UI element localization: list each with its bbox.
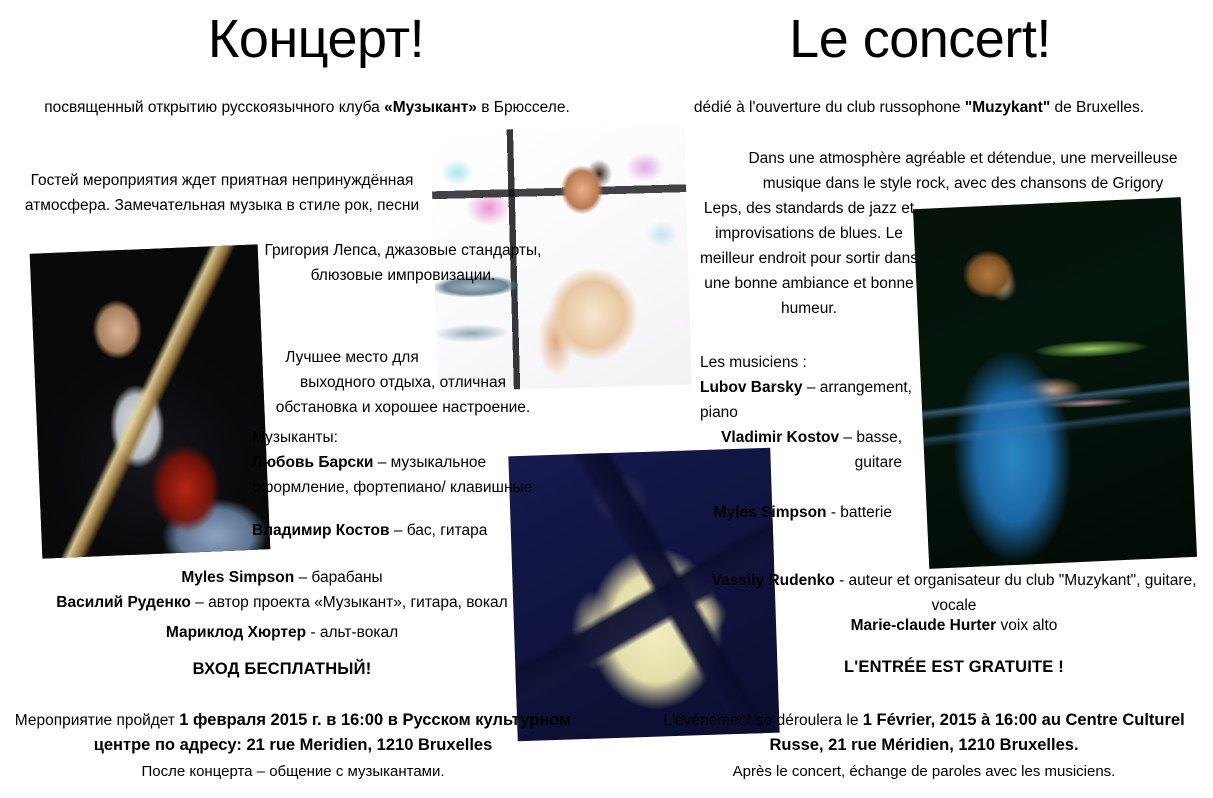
- french-musician-row-4: Vassily Rudenko - auteur et organisateur…: [700, 568, 1208, 618]
- musician-name: Lubov Barsky: [700, 379, 803, 396]
- musician-role: – basse, guitare: [839, 429, 902, 471]
- russian-venue-prefix: Мероприятие пройдет: [15, 712, 180, 729]
- russian-title: Концерт!: [36, 8, 596, 70]
- russian-intro-d: выходного отдыха, отличная: [252, 370, 554, 395]
- french-musician-row-5: Marie-claude Hurter voix alto: [700, 613, 1208, 638]
- russian-musician-row-3: Myles Simpson – барабаны: [10, 565, 554, 590]
- musician-name: Vassily Rudenko: [712, 572, 835, 589]
- guitarist-photo: [30, 244, 271, 558]
- musician-name: Василий Руденко: [56, 594, 191, 611]
- french-lead-part2: de Bruxelles.: [1050, 99, 1144, 116]
- russian-musician-row-2: Владимир Костов – бас, гитара: [252, 518, 554, 543]
- russian-intro-a: Гостей мероприятия ждет приятная неприну…: [10, 168, 434, 218]
- french-musicians-block: Les musiciens : Lubov Barsky – arrangeme…: [700, 350, 918, 425]
- russian-after-concert: После концерта – общение с музыкантами.: [10, 760, 576, 784]
- french-venue-prefix: L'événement se déroulera le: [663, 712, 862, 729]
- musician-name: Любовь Барски: [252, 454, 373, 471]
- musician-role: – бас, гитара: [394, 522, 488, 539]
- russian-musician-row: Любовь Барски – музыкальное оформление, …: [252, 450, 554, 500]
- russian-lead: посвященный открытию русскоязычного клуб…: [36, 96, 578, 120]
- musician-role: - batterie: [827, 504, 892, 521]
- musician-role: - auteur et organisateur du club "Muzyka…: [835, 572, 1197, 614]
- russian-musicians-heading: Музыканты:: [252, 425, 554, 450]
- musician-role: - альт-вокал: [306, 624, 398, 641]
- russian-musician-row-4: Василий Руденко – автор проекта «Музыкан…: [10, 590, 554, 615]
- russian-intro-b: Григория Лепса, джазовые стандарты, блюз…: [252, 238, 554, 288]
- musician-name: Myles Simpson: [714, 504, 827, 521]
- musician-role: – барабаны: [294, 569, 382, 586]
- french-musician-row: Lubov Barsky – arrangement, piano: [700, 375, 918, 425]
- french-lead: dédié à l'ouverture du club russophone "…: [630, 96, 1208, 120]
- russian-venue: Мероприятие пройдет 1 февраля 2015 г. в …: [10, 708, 576, 758]
- russian-free-entry: ВХОД БЕСПЛАТНЫЙ!: [10, 660, 554, 679]
- french-club-name: "Muzykant": [965, 99, 1050, 116]
- french-musician-row-2: Vladimir Kostov – basse, guitare: [700, 425, 902, 475]
- french-after-concert: Après le concert, échange de paroles ave…: [640, 760, 1208, 784]
- musician-name: Myles Simpson: [181, 569, 294, 586]
- french-intro-a: Dans une atmosphère agréable et détendue…: [718, 146, 1208, 196]
- russian-intro-e: обстановка и хорошее настроение.: [252, 395, 554, 420]
- russian-lead-part1: посвященный открытию русскоязычного клуб…: [44, 99, 384, 116]
- musician-name: Marie-claude Hurter: [851, 617, 997, 634]
- russian-lead-part2: в Брюсселе.: [477, 99, 570, 116]
- french-intro-b: Leps, des standards de jazz et improvisa…: [700, 196, 918, 321]
- musician-name: Мариклод Хюртер: [166, 624, 306, 641]
- russian-club-name: «Музыкант»: [384, 99, 477, 116]
- russian-musicians-block: Музыканты: Любовь Барски – музыкальное о…: [252, 425, 554, 500]
- french-musicians-heading: Les musiciens :: [700, 350, 918, 375]
- concert-poster: Концерт! посвященный открытию русскоязыч…: [0, 0, 1213, 798]
- pianist-photo: [913, 197, 1197, 569]
- french-free-entry: L'ENTRÉE EST GRATUITE !: [700, 658, 1208, 677]
- musician-role: voix alto: [996, 617, 1057, 634]
- musician-name: Владимир Костов: [252, 522, 394, 539]
- russian-intro-c: Лучшее место для: [252, 345, 452, 370]
- musician-name: Vladimir Kostov: [721, 429, 839, 446]
- russian-musician-row-5: Мариклод Хюртер - альт-вокал: [10, 620, 554, 645]
- french-lead-part1: dédié à l'ouverture du club russophone: [694, 99, 965, 116]
- musician-role: – автор проекта «Музыкант», гитара, вока…: [191, 594, 508, 611]
- french-title: Le concert!: [640, 8, 1200, 70]
- french-venue: L'événement se déroulera le 1 Février, 2…: [640, 708, 1208, 758]
- french-musician-row-3: Myles Simpson - batterie: [700, 500, 892, 525]
